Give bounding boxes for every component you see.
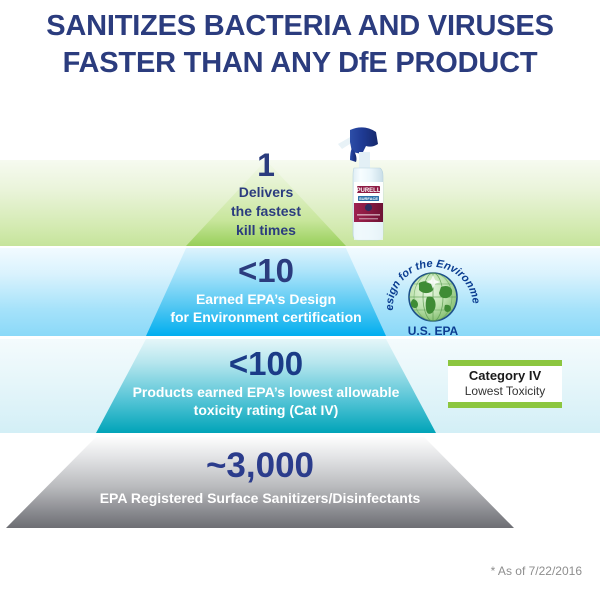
tier-2-description: Earned EPA’s Design for Environment cert… [146, 290, 386, 326]
tier-1-desc-line-1: Delivers [186, 183, 346, 202]
tier-3-text: <100 Products earned EPA’s lowest allowa… [96, 344, 436, 419]
category-iv-card: Category IV Lowest Toxicity [448, 360, 562, 408]
tier-2-desc-line-1: Earned EPA’s Design [146, 290, 386, 308]
tier-4-text: ~3,000 EPA Registered Surface Sanitizers… [6, 444, 514, 507]
category-card-subtitle: Lowest Toxicity [448, 384, 562, 399]
tier-3-desc-line-1: Products earned EPA’s lowest allowable [96, 383, 436, 401]
design-for-the-environment-logo: Design for the Environment U.S. EPA [383, 253, 483, 341]
category-card-title: Category IV [448, 368, 562, 384]
tier-4-description: EPA Registered Surface Sanitizers/Disinf… [6, 489, 514, 507]
tier-2-desc-line-2: for Environment certification [146, 308, 386, 326]
tier-1-desc-line-3: kill times [186, 221, 346, 240]
page-title-line-1: SANITIZES BACTERIA AND VIRUSES [0, 8, 600, 45]
tier-1-text: 1 Delivers the fastest kill times [186, 148, 346, 240]
svg-text:PURELL: PURELL [357, 188, 381, 194]
tier-2-number: <10 [146, 252, 386, 290]
infographic-canvas: SANITIZES BACTERIA AND VIRUSES FASTER TH… [0, 0, 600, 600]
footnote: * As of 7/22/2016 [0, 564, 582, 578]
svg-text:U.S. EPA: U.S. EPA [408, 324, 459, 338]
tier-1-desc-line-2: the fastest [186, 202, 346, 221]
tier-3-desc-line-2: toxicity rating (Cat IV) [96, 401, 436, 419]
tier-3-description: Products earned EPA’s lowest allowable t… [96, 383, 436, 419]
page-title-line-2: FASTER THAN ANY DfE PRODUCT [0, 45, 600, 82]
tier-4-desc-line-1: EPA Registered Surface Sanitizers/Disinf… [6, 489, 514, 507]
tier-2-text: <10 Earned EPA’s Design for Environment … [146, 252, 386, 326]
page-title: SANITIZES BACTERIA AND VIRUSES FASTER TH… [0, 8, 600, 82]
tier-4-number: ~3,000 [6, 444, 514, 487]
tier-3-number: <100 [96, 344, 436, 383]
tier-1-description: Delivers the fastest kill times [186, 183, 346, 240]
tier-1-number: 1 [186, 148, 346, 182]
svg-text:SURFACE: SURFACE [359, 196, 378, 201]
